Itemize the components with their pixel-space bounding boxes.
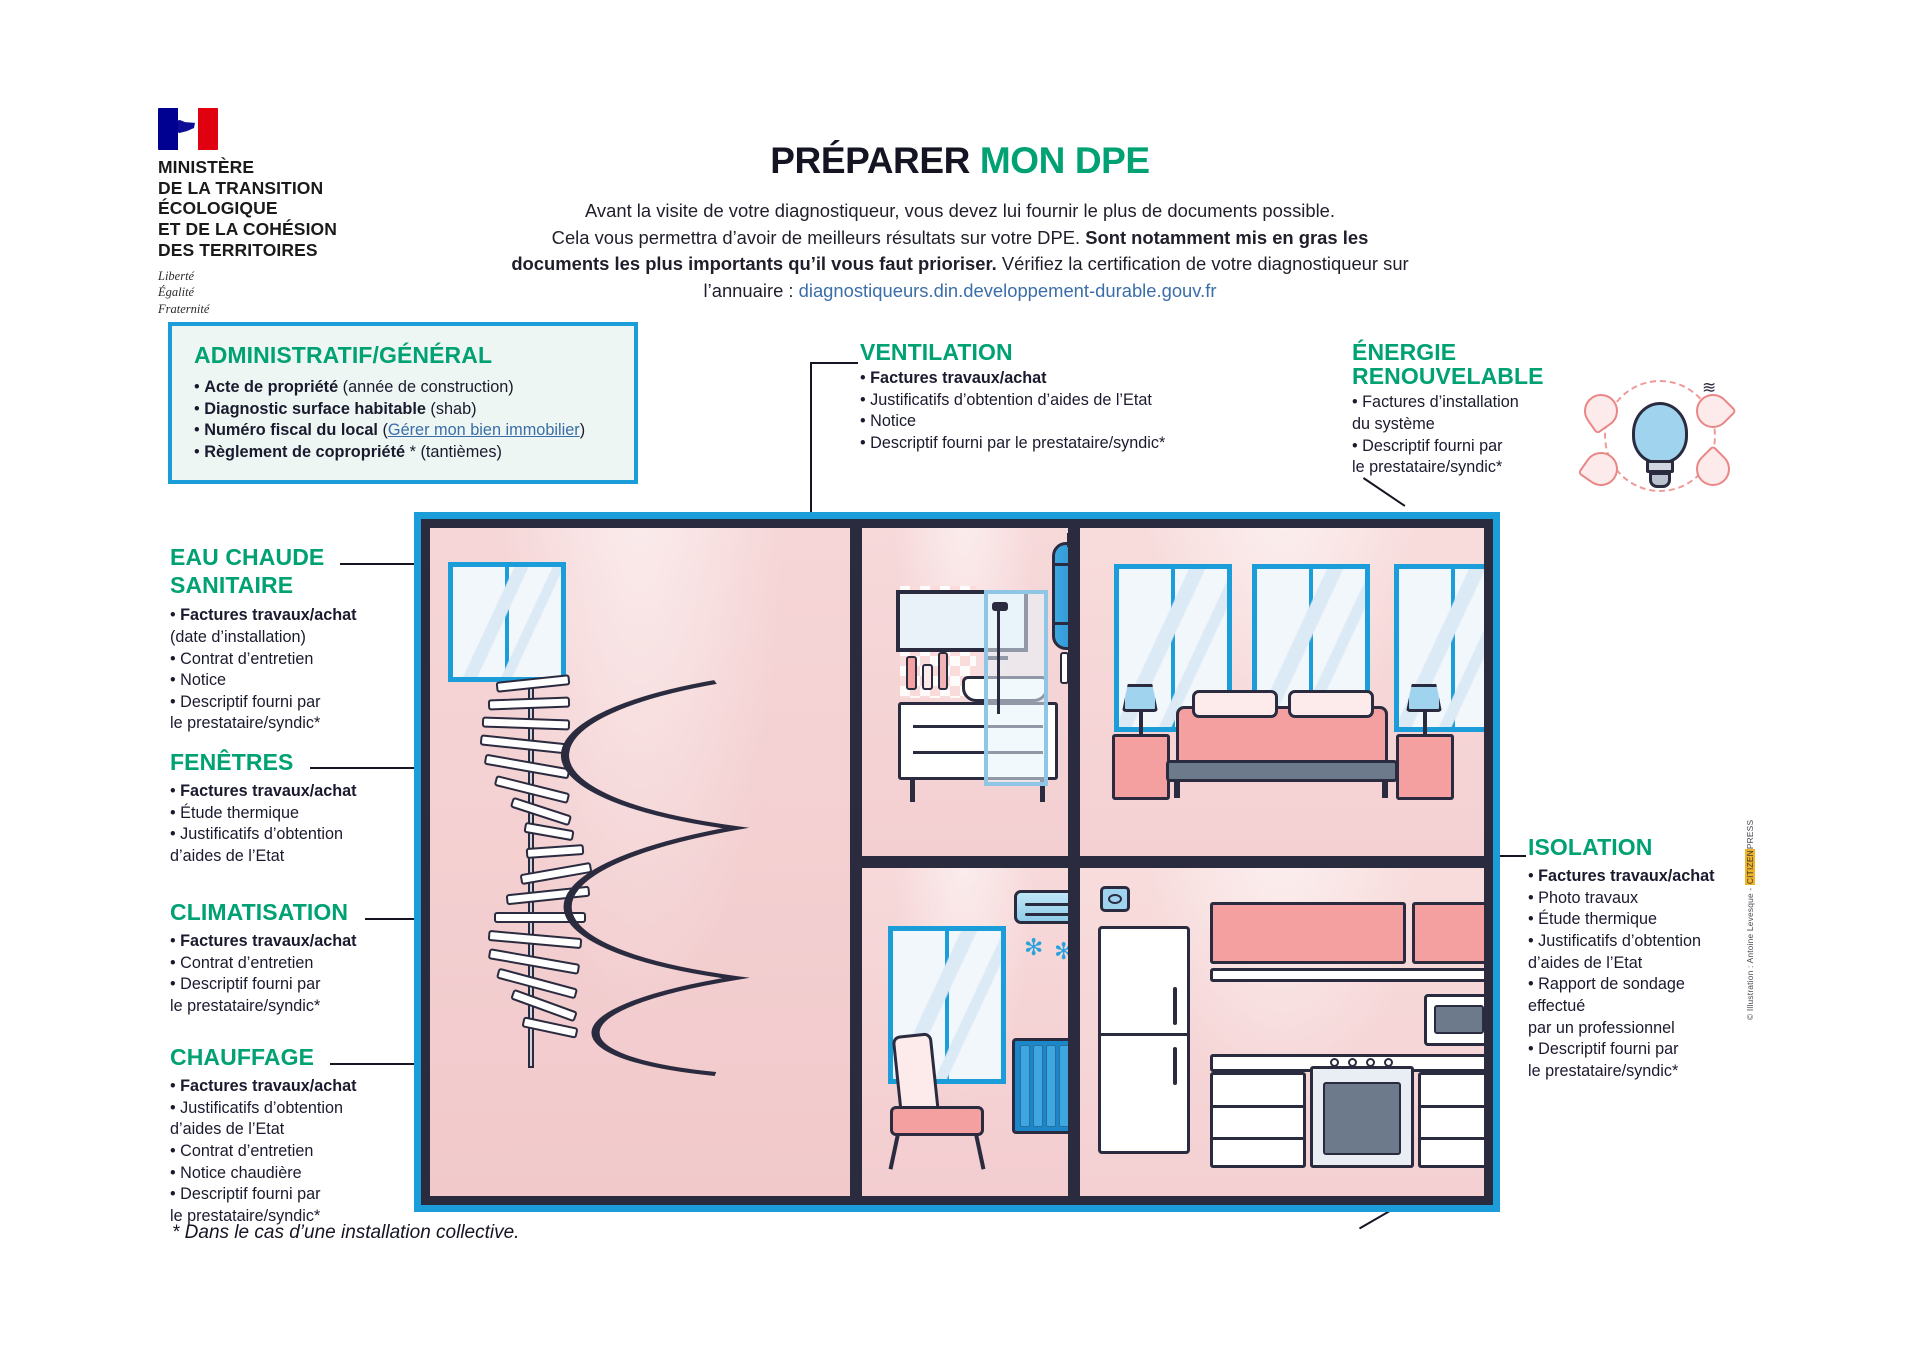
intro-line-4a: l’annuaire : [704,280,799,301]
microwave-icon [1424,994,1484,1046]
list-item: le prestataire/syndic* [170,713,420,735]
ventilation-grille-icon [1100,886,1130,912]
list-item: Factures travaux/achat [860,368,1230,390]
room-kitchen [1080,868,1484,1196]
bottle-icon [938,652,948,690]
gerer-mon-bien-link[interactable]: Gérer mon bien immobilier [388,421,580,439]
list-item-rest: du système [1352,415,1435,433]
bed-frame [1166,760,1398,782]
upper-cabinet [1210,902,1406,964]
list-item: Rapport de sondage [1528,974,1758,996]
list-item-rest: Justificatifs d’obtention [180,1099,343,1117]
upper-cabinet [1412,902,1484,964]
french-flag-icon [158,108,218,150]
list-item: Descriptif fourni par [170,692,420,714]
ministry-name: MINISTÈRE DE LA TRANSITION ÉCOLOGIQUE ET… [158,157,388,260]
list-item: Justificatifs d’obtention [1528,931,1758,953]
list-item: Descriptif fourni par [170,974,420,996]
vanity-leg [910,780,915,802]
intro-paragraph: Avant la visite de votre diagnostiqueur,… [430,198,1490,305]
leader-line-energie [1363,477,1405,506]
page-title-dark: PRÉPARER [770,140,980,181]
list-item-rest: le prestataire/syndic* [1528,1062,1678,1080]
bed-leg [1382,780,1388,798]
callout-eau-chaude-sanitaire: EAU CHAUDE SANITAIRE Factures travaux/ac… [170,545,420,735]
bedside-lamp-icon [1406,684,1442,712]
list-item-rest: Étude thermique [1538,910,1657,928]
chair-leg [889,1134,900,1170]
eau-chaude-list: Factures travaux/achat (date d’installat… [170,605,420,735]
bottle-icon [922,664,933,690]
bulb-base [1649,472,1671,488]
room-stairwell [430,528,850,1196]
list-item-rest: Descriptif fourni par [180,1185,320,1203]
staircase-handrail [430,678,850,1078]
list-item: Justificatifs d’obtention [170,824,420,846]
list-item-bold: Factures travaux/achat [180,782,356,800]
list-item: Factures travaux/achat [170,605,420,627]
renewable-energy-icon: ≋ [1570,372,1750,512]
list-item: Étude thermique [170,803,420,825]
list-item: Acte de propriété (année de construction… [194,377,616,399]
callout-chauffage: CHAUFFAGE Factures travaux/achat Justifi… [170,1045,420,1228]
leader-line-chauffage [330,1063,420,1065]
callout-isolation: ISOLATION Factures travaux/achat Photo t… [1528,835,1758,1082]
oven-icon [1310,1066,1414,1168]
counter-shelf [1210,968,1484,982]
list-item: Notice chaudière [170,1163,420,1185]
snowflake-icon: ✻ [1054,940,1068,963]
list-item-rest: d’aides de l’Etat [1528,954,1642,972]
list-item-rest: le prestataire/syndic* [170,714,320,732]
list-item: d’aides de l’Etat [170,1119,420,1141]
intro-line-2a: Cela vous permettra d’avoir de meilleurs… [552,227,1086,248]
list-item-rest: effectué [1528,997,1585,1015]
lamp-stem [1139,710,1143,736]
credit-mark: CITIZEN [1745,849,1755,885]
list-item-rest: Notice chaudière [180,1164,301,1182]
wind-icon: ≋ [1702,378,1716,398]
list-item: Justificatifs d’obtention [170,1098,420,1120]
section-title-administratif: ADMINISTRATIF/GÉNÉRAL [194,342,616,369]
list-item-bold: Factures travaux/achat [870,369,1046,387]
list-item-bold: Numéro fiscal du local [204,421,378,439]
callout-ventilation: VENTILATION Factures travaux/achat Justi… [860,340,1230,455]
section-title-chauffage: CHAUFFAGE [170,1045,420,1069]
list-item-rest: Descriptif fourni par [1538,1040,1678,1058]
list-item: du système [1352,414,1562,436]
intro-line-3a: documents les plus importants qu’il vous… [511,253,996,274]
bed-leg [1174,780,1180,798]
list-item: Factures travaux/achat [170,1076,420,1098]
radiator-icon [1012,1038,1068,1134]
credit-prefix: © Illustration : Antoine Levesque - [1745,885,1755,1020]
list-item: Descriptif fourni par [170,1184,420,1206]
list-item: d’aides de l’Etat [1528,953,1758,975]
snowflake-icon: ✻ [1024,936,1043,959]
list-item-rest: Rapport de sondage [1538,975,1685,993]
list-item-rest: Étude thermique [180,804,299,822]
list-item: le prestataire/syndic* [1352,457,1562,479]
pillow [1192,690,1278,718]
intro-line-2b: Sont notamment mis en gras les [1085,227,1368,248]
list-item-rest: d’aides de l’Etat [170,847,284,865]
intro-line-3b: Vérifiez la certification de votre diagn… [997,253,1409,274]
list-item-rest: d’aides de l’Etat [170,1120,284,1138]
list-item-rest: (shab) [426,400,477,418]
cup-icon [1060,652,1068,684]
nightstand [1112,734,1170,800]
water-heater-icon [1052,542,1068,650]
list-item: Descriptif fourni par [1528,1039,1758,1061]
list-item-bold: Règlement de copropriété [204,443,405,461]
list-item: le prestataire/syndic* [1528,1061,1758,1083]
section-title-ventilation: VENTILATION [860,340,1230,364]
lamp-stem [1423,710,1427,736]
list-item: Étude thermique [1528,909,1758,931]
shower-head-icon [992,602,1008,611]
fridge-icon [1098,926,1190,1154]
list-item: d’aides de l’Etat [170,846,420,868]
list-item: Contrat d’entretien [170,953,420,975]
list-item: Factures d’installation [1352,392,1562,414]
list-item-rest: Descriptif fourni par le prestataire/syn… [870,434,1165,452]
list-item-bold: Diagnostic surface habitable [204,400,426,418]
burner-icon [1366,1058,1375,1067]
list-item: Numéro fiscal du local (Gérer mon bien i… [194,420,616,442]
shower-icon [984,590,1048,786]
annuaire-link[interactable]: diagnostiqueurs.din.developpement-durabl… [799,280,1217,301]
list-item: Justificatifs d’obtention d’aides de l’E… [860,390,1230,412]
list-item-rest: Justificatifs d’obtention [180,825,343,843]
shower-bar [997,604,1000,714]
list-item: Diagnostic surface habitable (shab) [194,399,616,421]
room-bedroom [1080,528,1484,856]
list-item: Descriptif fourni par le prestataire/syn… [860,433,1230,455]
armchair-seat [890,1106,984,1136]
list-item: Notice [860,411,1230,433]
list-item-tail: ) [580,421,585,439]
chauffage-list: Factures travaux/achat Justificatifs d’o… [170,1076,420,1227]
republic-motto: Liberté Égalité Fraternité [158,268,388,317]
administratif-general-box: ADMINISTRATIF/GÉNÉRAL Acte de propriété … [168,322,638,484]
list-item: par un professionnel [1528,1018,1758,1040]
leader-line-ventilation [810,362,858,364]
list-item-bold: Acte de propriété [204,378,338,396]
ministry-logo-block: MINISTÈRE DE LA TRANSITION ÉCOLOGIQUE ET… [158,108,388,317]
infographic-page: MINISTÈRE DE LA TRANSITION ÉCOLOGIQUE ET… [0,0,1920,1363]
room-living-room: ✻ ✻ ✻ ✻ [862,868,1068,1196]
list-item-rest: Contrat d’entretien [180,650,313,668]
list-item-rest: * (tantièmes) [405,443,502,461]
list-item: Descriptif fourni par [1352,436,1562,458]
fenetres-list: Factures travaux/achat Étude thermique J… [170,781,420,868]
energie-list: Factures d’installation du système Descr… [1352,392,1562,479]
list-item: Contrat d’entretien [170,1141,420,1163]
list-item-bold: Factures travaux/achat [180,1077,356,1095]
list-item-rest: Justificatifs d’obtention d’aides de l’E… [870,391,1152,409]
intro-line-1: Avant la visite de votre diagnostiqueur,… [585,200,1335,221]
list-item: Factures travaux/achat [1528,866,1758,888]
list-item: le prestataire/syndic* [170,996,420,1018]
air-conditioner-icon [1014,890,1068,924]
list-item: (date d’installation) [170,627,420,649]
section-title-eau-chaude-line1: EAU CHAUDE [170,545,420,569]
list-item: Contrat d’entretien [170,649,420,671]
list-item-bold: Factures travaux/achat [1538,867,1714,885]
list-item: Notice [170,670,420,692]
list-item-rest: ( [378,421,388,439]
list-item-rest: le prestataire/syndic* [1352,458,1502,476]
house-cutaway-illustration: ✻ ✻ ✻ ✻ [414,512,1500,1212]
ventilation-list: Factures travaux/achat Justificatifs d’o… [860,368,1230,455]
window[interactable] [448,562,566,682]
illustration-credit: © Illustration : Antoine Levesque - CITI… [1745,820,1755,1020]
list-item-rest: Factures d’installation [1362,393,1519,411]
list-item-rest: (date d’installation) [170,628,306,646]
burner-icon [1384,1058,1393,1067]
list-item-rest: par un professionnel [1528,1019,1675,1037]
list-item: Photo travaux [1528,888,1758,910]
bedside-lamp-icon [1122,684,1158,712]
burner-icon [1330,1058,1339,1067]
list-item: Factures travaux/achat [170,931,420,953]
lower-cabinet [1418,1072,1484,1168]
page-title-green: MON DPE [980,140,1150,181]
pillow [1288,690,1374,718]
list-item-rest: Justificatifs d’obtention [1538,932,1701,950]
list-item-rest: Notice [180,671,226,689]
section-title-eau-chaude-line2: SANITAIRE [170,573,420,597]
isolation-list: Factures travaux/achat Photo travaux Étu… [1528,866,1758,1082]
credit-suffix: PRESS [1745,820,1755,849]
list-item-rest: le prestataire/syndic* [170,997,320,1015]
list-item-rest: Contrat d’entretien [180,1142,313,1160]
list-item: Règlement de copropriété * (tantièmes) [194,442,616,464]
list-item-rest: Descriptif fourni par [180,975,320,993]
chair-leg [974,1134,985,1170]
list-item: Factures travaux/achat [170,781,420,803]
list-item-rest: Notice [870,412,916,430]
light-bulb-icon [1632,402,1688,464]
page-title: PRÉPARER MON DPE [430,140,1490,182]
list-item-bold: Factures travaux/achat [180,932,356,950]
nightstand [1396,734,1454,800]
list-item-rest: Contrat d’entretien [180,954,313,972]
lower-cabinet [1210,1072,1306,1168]
room-bathroom [862,528,1068,856]
footnote: * Dans le cas d’une installation collect… [172,1222,519,1244]
burner-icon [1348,1058,1357,1067]
section-title-isolation: ISOLATION [1528,835,1758,859]
section-title-climatisation: CLIMATISATION [170,900,420,924]
section-title-fenetres: FENÊTRES [170,750,420,774]
bottle-icon [906,656,917,690]
list-item-rest: Descriptif fourni par [1362,437,1502,455]
callout-energie-renouvelable: ÉNERGIE RENOUVELABLE Factures d’installa… [1352,340,1562,479]
list-item-bold: Factures travaux/achat [180,606,356,624]
list-item-rest: (année de construction) [338,378,514,396]
administratif-list: Acte de propriété (année de construction… [194,377,616,464]
leader-line-fenetres [310,767,420,769]
climatisation-list: Factures travaux/achat Contrat d’entreti… [170,931,420,1018]
list-item-rest: Photo travaux [1538,889,1638,907]
list-item-rest: Descriptif fourni par [180,693,320,711]
list-item: effectué [1528,996,1758,1018]
